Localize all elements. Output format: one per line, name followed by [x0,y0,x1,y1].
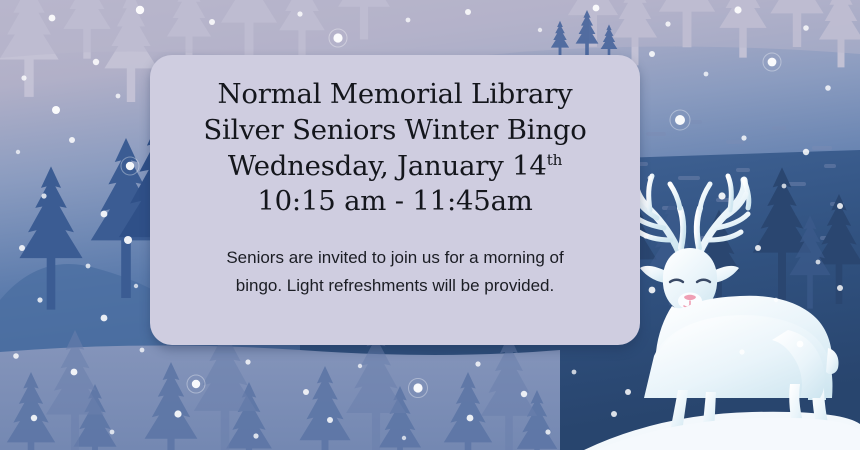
event-headline: Normal Memorial Library Silver Seniors W… [176,77,614,220]
headline-date-text: Wednesday, January 14 [228,150,547,182]
event-description: Seniors are invited to join us for a mor… [176,244,614,299]
description-line-1: Seniors are invited to join us for a mor… [176,244,614,272]
headline-line-program: Silver Seniors Winter Bingo [176,113,614,149]
headline-date-ordinal: th [547,150,562,168]
winter-bingo-poster: Normal Memorial Library Silver Seniors W… [0,0,860,450]
event-info-card: Normal Memorial Library Silver Seniors W… [150,55,640,345]
headline-line-library: Normal Memorial Library [176,77,614,113]
headline-line-date: Wednesday, January 14th [176,149,614,185]
description-line-2: bingo. Light refreshments will be provid… [176,272,614,300]
headline-line-time: 10:15 am - 11:45am [176,184,614,220]
